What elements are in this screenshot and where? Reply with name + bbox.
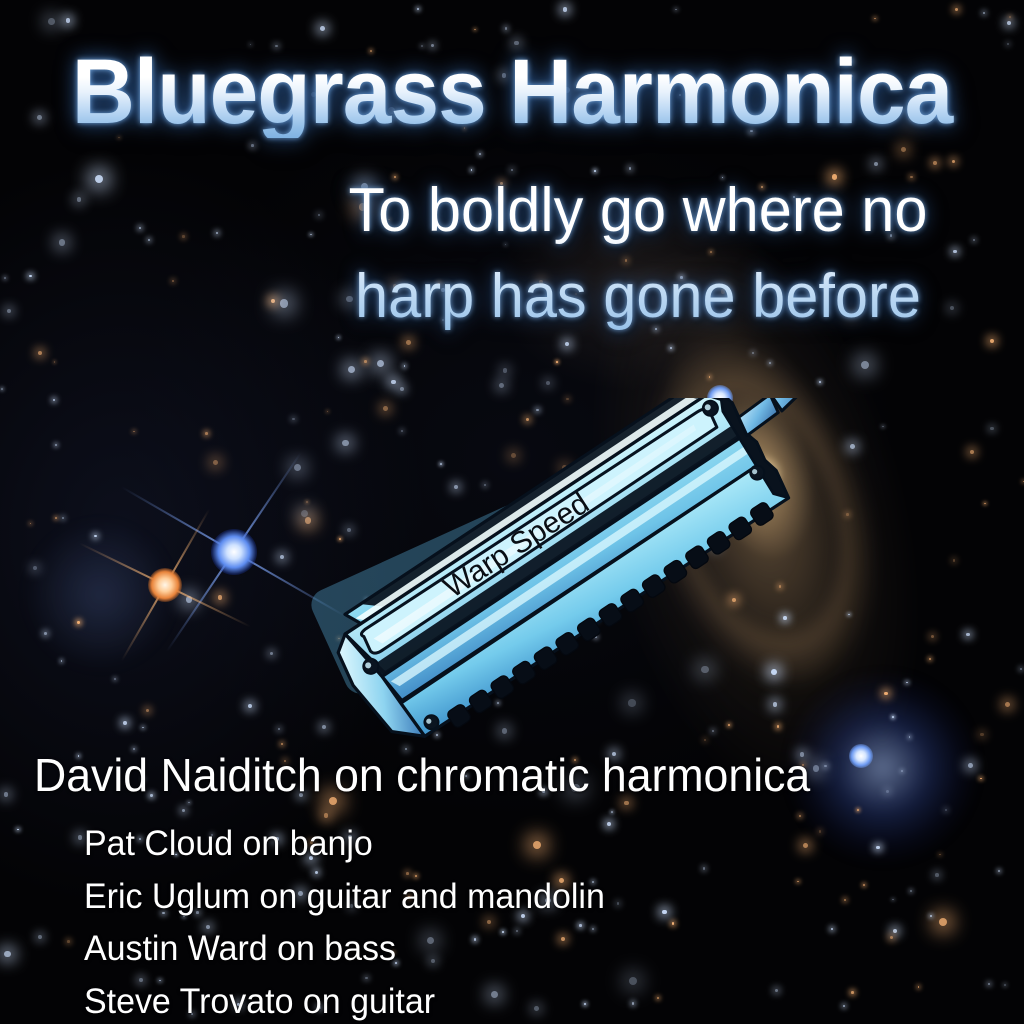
- album-title: Bluegrass Harmonica: [26, 46, 999, 138]
- blue-haze: [25, 520, 175, 670]
- harmonica-illustration: Warp Speed: [278, 398, 818, 738]
- credit-line: Eric Uglum on guitar and mandolin: [84, 871, 605, 924]
- subtitle-line-1: To boldly go where no: [331, 168, 945, 254]
- album-cover: Warp Speed: [0, 0, 1024, 1024]
- subtitle-line-2: harp has gone before: [331, 254, 945, 340]
- supporting-credits: Pat Cloud on banjo Eric Uglum on guitar …: [84, 818, 605, 1024]
- lead-artist-credit: David Naiditch on chromatic harmonica: [34, 748, 810, 802]
- credit-line: Steve Trovato on guitar: [84, 976, 605, 1024]
- credit-line: Austin Ward on bass: [84, 923, 605, 976]
- album-subtitle: To boldly go where no harp has gone befo…: [331, 168, 945, 339]
- credit-line: Pat Cloud on banjo: [84, 818, 605, 871]
